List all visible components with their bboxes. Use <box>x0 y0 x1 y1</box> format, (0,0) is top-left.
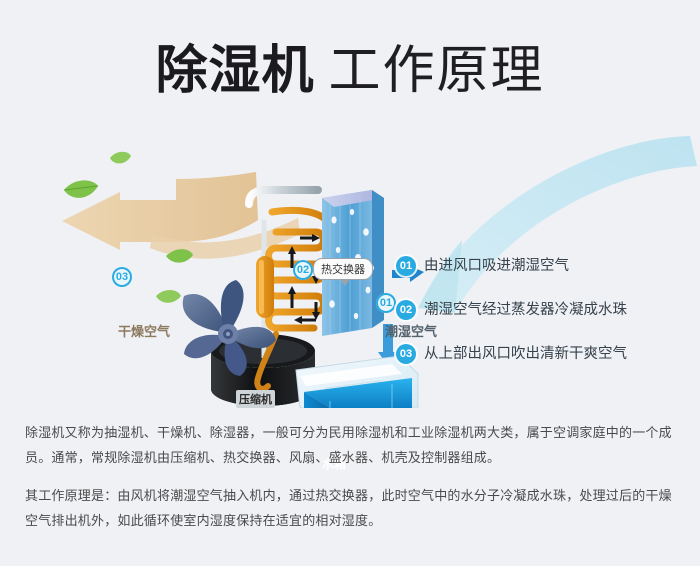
legend-item: 01 由进风口吸进潮湿空气 <box>396 256 686 276</box>
badge-step-01-diagram: 01 <box>376 293 396 313</box>
legend-item: 02 潮湿空气经过蒸发器冷凝成水珠 <box>396 300 686 320</box>
label-compressor: 压缩机 <box>236 390 275 408</box>
title-secondary: 工作原理 <box>329 42 545 100</box>
title-primary: 除湿机 <box>155 42 314 100</box>
label-dry-air: 干燥空气 <box>118 321 170 340</box>
callout-heat-exchanger-label: 热交换器 <box>321 264 365 276</box>
paragraph-spacer <box>25 470 675 483</box>
badge-step-02-diagram: 02 <box>293 260 313 280</box>
step-badge-01: 01 <box>396 256 416 276</box>
step-text-03: 从上部出风口吹出清新干爽空气 <box>424 344 627 364</box>
infographic-page: 除湿机工作原理 <box>0 0 700 566</box>
step-text-02: 潮湿空气经过蒸发器冷凝成水珠 <box>424 300 627 320</box>
paragraph-principle: 其工作原理是：由风机将潮湿空气抽入机内，通过热交换器，此时空气中的水分子冷凝成水… <box>25 483 675 533</box>
paragraph-definition: 除湿机又称为抽湿机、干燥机、除湿器，一般可分为民用除湿机和工业除湿机两大类，属于… <box>25 420 675 470</box>
page-title: 除湿机工作原理 <box>0 28 700 103</box>
description-block: 除湿机又称为抽湿机、干燥机、除湿器，一般可分为民用除湿机和工业除湿机两大类，属于… <box>25 420 675 533</box>
legend-item: 03 从上部出风口吹出清新干爽空气 <box>396 344 686 364</box>
step-badge-03: 03 <box>396 344 416 364</box>
badge-step-03-diagram: 03 <box>112 267 132 287</box>
callout-heat-exchanger: 热交换器 <box>313 258 373 280</box>
steps-legend: 01 由进风口吸进潮湿空气 02 潮湿空气经过蒸发器冷凝成水珠 03 从上部出风… <box>396 256 686 388</box>
step-badge-02: 02 <box>396 300 416 320</box>
step-text-01: 由进风口吸进潮湿空气 <box>424 256 569 276</box>
